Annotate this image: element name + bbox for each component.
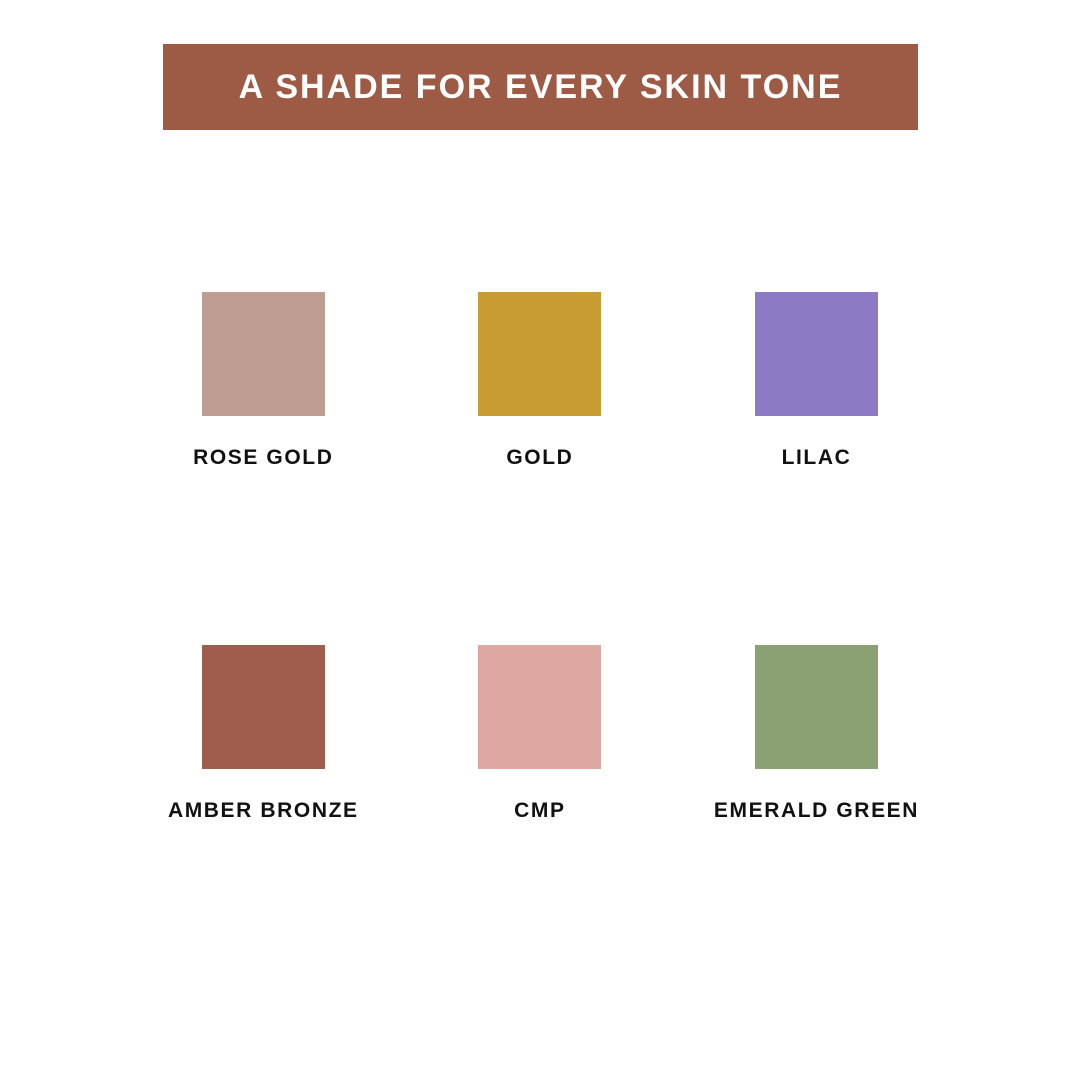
swatch-cell-lilac[interactable]: LILAC xyxy=(678,292,955,468)
shade-chart-page: A SHADE FOR EVERY SKIN TONE ROSE GOLD GO… xyxy=(0,0,1080,1080)
page-title: A SHADE FOR EVERY SKIN TONE xyxy=(239,70,843,104)
swatch-cell-emerald-green[interactable]: EMERALD GREEN xyxy=(678,645,955,821)
swatch-cell-rose-gold[interactable]: ROSE GOLD xyxy=(125,292,402,468)
color-swatch[interactable] xyxy=(202,645,325,769)
swatch-label: CMP xyxy=(514,800,565,821)
swatch-label: LILAC xyxy=(782,447,852,468)
color-swatch[interactable] xyxy=(478,645,601,769)
swatch-row-1: ROSE GOLD GOLD LILAC xyxy=(125,292,955,468)
swatch-cell-gold[interactable]: GOLD xyxy=(402,292,679,468)
swatch-label: GOLD xyxy=(506,447,573,468)
color-swatch[interactable] xyxy=(478,292,601,416)
swatch-cell-amber-bronze[interactable]: AMBER BRONZE xyxy=(125,645,402,821)
color-swatch[interactable] xyxy=(755,292,878,416)
swatch-grid: ROSE GOLD GOLD LILAC AMBER BRONZE CMP xyxy=(125,292,955,821)
header-banner: A SHADE FOR EVERY SKIN TONE xyxy=(163,44,918,130)
swatch-row-2: AMBER BRONZE CMP EMERALD GREEN xyxy=(125,645,955,821)
swatch-label: EMERALD GREEN xyxy=(714,800,919,821)
color-swatch[interactable] xyxy=(202,292,325,416)
swatch-label: AMBER BRONZE xyxy=(168,800,359,821)
color-swatch[interactable] xyxy=(755,645,878,769)
swatch-cell-cmp[interactable]: CMP xyxy=(402,645,679,821)
swatch-label: ROSE GOLD xyxy=(193,447,333,468)
